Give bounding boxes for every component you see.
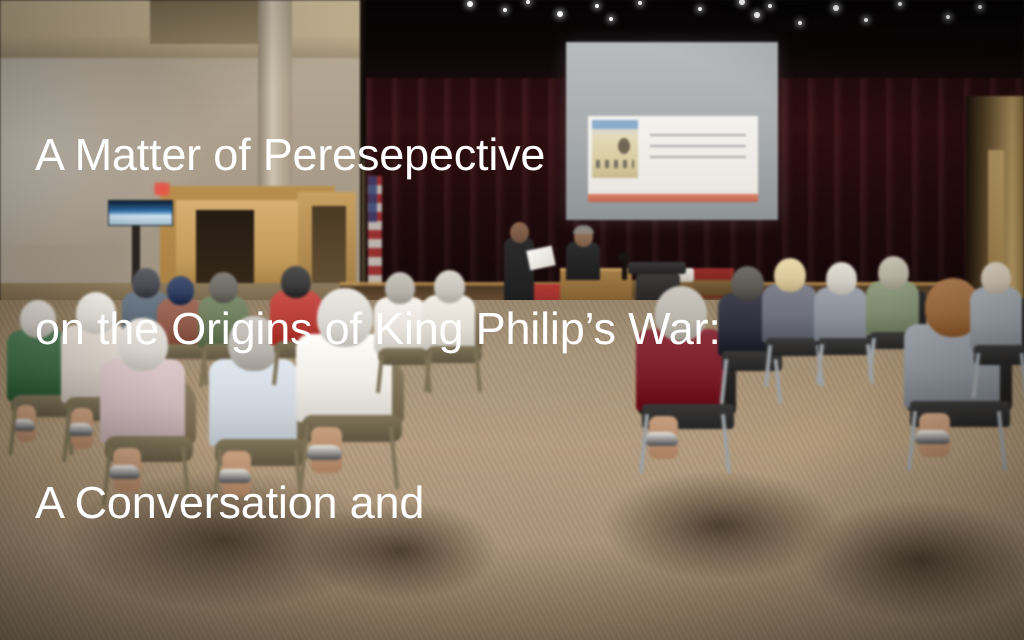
title-line-3: A Conversation and (35, 474, 935, 532)
title-line-2: on the Origins of King Philip’s War: (35, 300, 935, 358)
event-photo-slide: A Matter of Peresepective on the Origins… (0, 0, 1024, 640)
chair-leg (1020, 353, 1024, 398)
title-line-1: A Matter of Peresepective (35, 126, 935, 184)
chair-leg (972, 353, 981, 398)
chair-seat (974, 345, 1024, 365)
page-title: A Matter of Peresepective on the Origins… (35, 10, 935, 640)
audience-member (968, 262, 1024, 412)
audience-head (981, 262, 1011, 294)
audience-shoe (13, 419, 35, 431)
audience-torso (970, 287, 1022, 350)
